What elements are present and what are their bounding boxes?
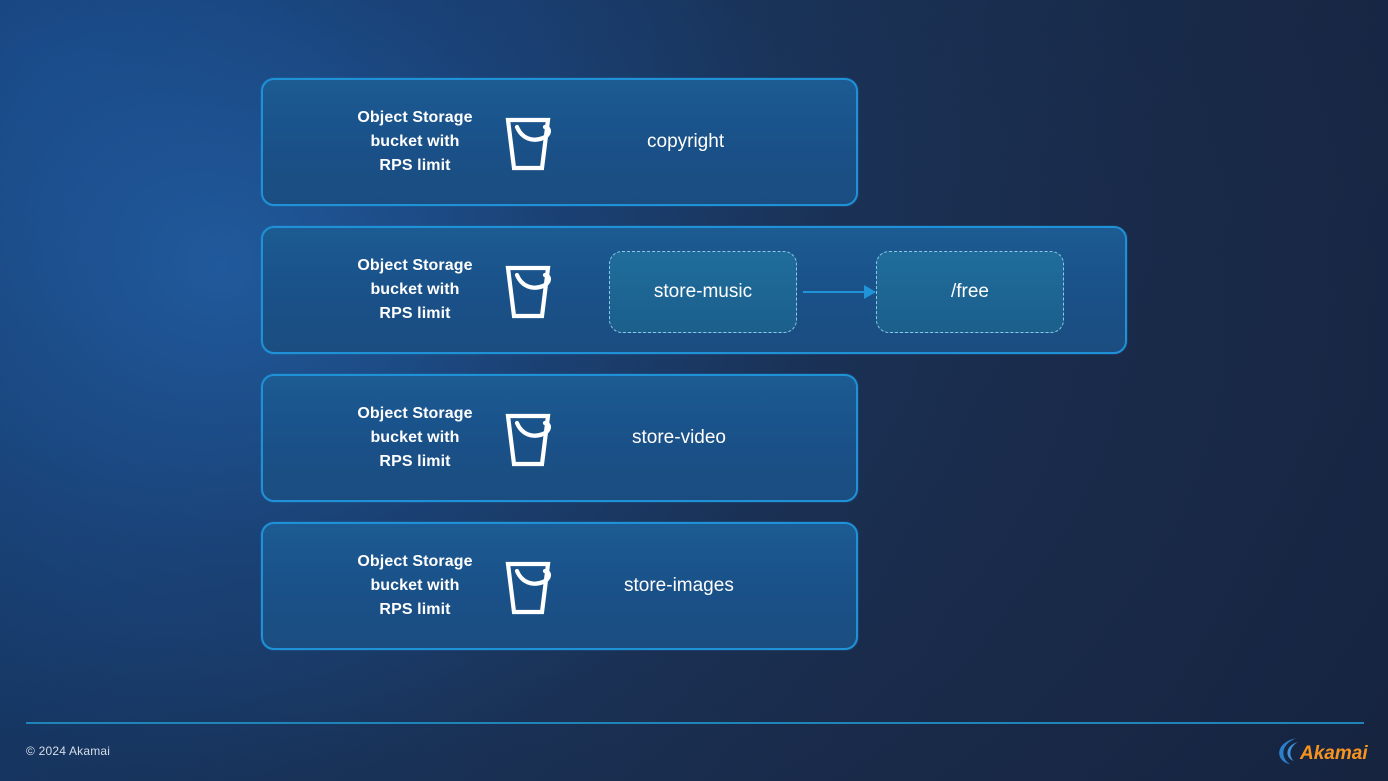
bucket-label-line-3: RPS limit	[335, 450, 495, 474]
bucket-row-store-video[interactable]: Object Storage bucket with RPS limit sto…	[261, 374, 858, 502]
bucket-label-line-3: RPS limit	[335, 302, 495, 326]
bucket-label-line-2: bucket with	[335, 278, 495, 302]
bucket-label-line-1: Object Storage	[335, 550, 495, 574]
bucket-label-line-2: bucket with	[335, 426, 495, 450]
bucket-row-store-images[interactable]: Object Storage bucket with RPS limit sto…	[261, 522, 858, 650]
bucket-row-label: Object Storage bucket with RPS limit	[335, 254, 495, 326]
akamai-logo: Akamai	[1276, 736, 1368, 766]
bucket-row-value: store-video	[632, 427, 726, 449]
bucket-icon	[495, 106, 567, 178]
bucket-label-line-1: Object Storage	[335, 106, 495, 130]
bucket-label-line-3: RPS limit	[335, 154, 495, 178]
bucket-label-line-2: bucket with	[335, 130, 495, 154]
bucket-label-line-2: bucket with	[335, 574, 495, 598]
bucket-label-line-1: Object Storage	[335, 254, 495, 278]
bucket-row-copyright[interactable]: Object Storage bucket with RPS limit cop…	[261, 78, 858, 206]
bucket-row-label: Object Storage bucket with RPS limit	[335, 550, 495, 622]
bucket-label-line-3: RPS limit	[335, 598, 495, 622]
subbucket-free[interactable]: /free	[876, 251, 1064, 333]
footer-divider	[26, 722, 1364, 724]
bucket-row-store-music[interactable]: Object Storage bucket with RPS limit sto…	[261, 226, 1127, 354]
bucket-row-label: Object Storage bucket with RPS limit	[335, 402, 495, 474]
slide-canvas: Object Storage bucket with RPS limit cop…	[0, 0, 1388, 781]
bucket-row-label: Object Storage bucket with RPS limit	[335, 106, 495, 178]
copyright-text: © 2024 Akamai	[26, 744, 110, 758]
bucket-icon	[495, 254, 567, 326]
bucket-icon	[495, 550, 567, 622]
bucket-icon	[495, 402, 567, 474]
subbucket-store-music[interactable]: store-music	[609, 251, 797, 333]
bucket-row-value: store-images	[624, 575, 734, 597]
flow-arrow	[803, 291, 875, 293]
akamai-logo-text: Akamai	[1299, 743, 1368, 764]
bucket-label-line-1: Object Storage	[335, 402, 495, 426]
bucket-row-value: copyright	[647, 131, 724, 153]
